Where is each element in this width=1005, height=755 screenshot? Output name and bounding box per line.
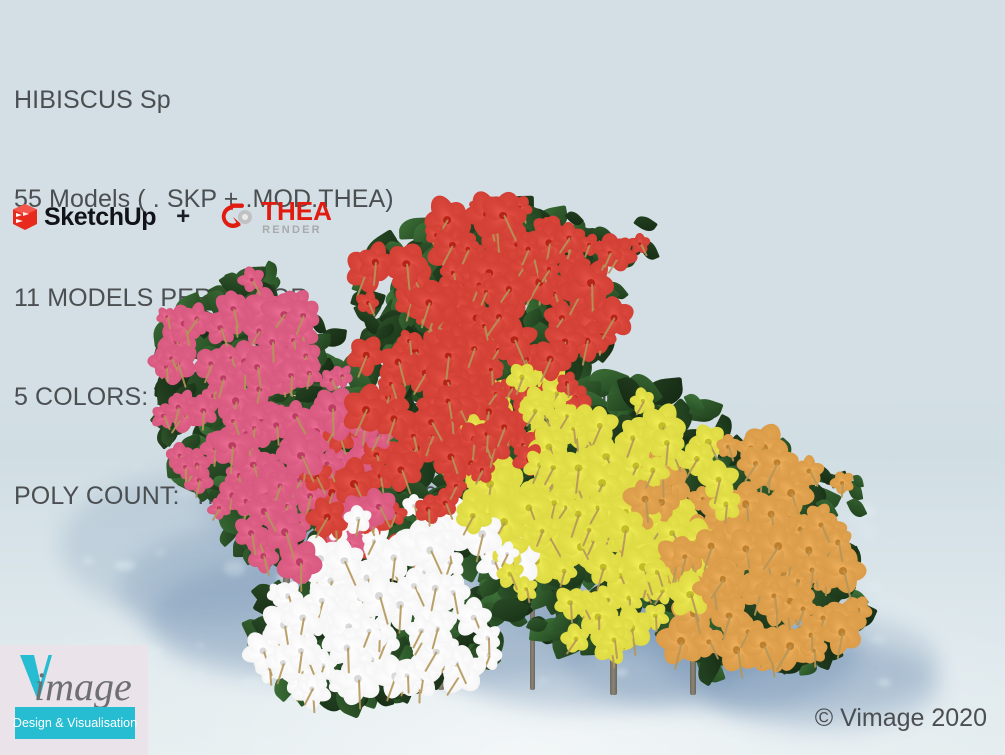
header-line-title: HIBISCUS Sp bbox=[14, 84, 629, 117]
vimage-tagline-bar: Design & Visualisation bbox=[15, 707, 135, 739]
copyright-notice: © Vimage 2020 bbox=[815, 704, 987, 733]
thea-main-text: THEA bbox=[261, 198, 332, 224]
plus-separator: + bbox=[172, 203, 194, 231]
thea-wordmark: THEA RENDER bbox=[261, 198, 332, 236]
vimage-tagline: Design & Visualisation bbox=[13, 716, 137, 730]
sketchup-cube-icon bbox=[10, 202, 40, 232]
sketchup-logo: SketchUp bbox=[10, 202, 156, 232]
poster-canvas: HIBISCUS Sp 55 Models ( . SKP + .MOD.THE… bbox=[0, 0, 1005, 755]
vimage-brand-logo: image Design & Visualisation bbox=[0, 645, 148, 755]
sketchup-wordmark: SketchUp bbox=[44, 203, 156, 232]
software-logo-strip: SketchUp + THEA RENDER bbox=[10, 198, 332, 236]
thea-render-logo: THEA RENDER bbox=[210, 198, 332, 236]
thea-sub-text: RENDER bbox=[262, 225, 332, 236]
vimage-wordmark: image bbox=[34, 663, 132, 710]
thea-circle-icon bbox=[210, 201, 256, 233]
